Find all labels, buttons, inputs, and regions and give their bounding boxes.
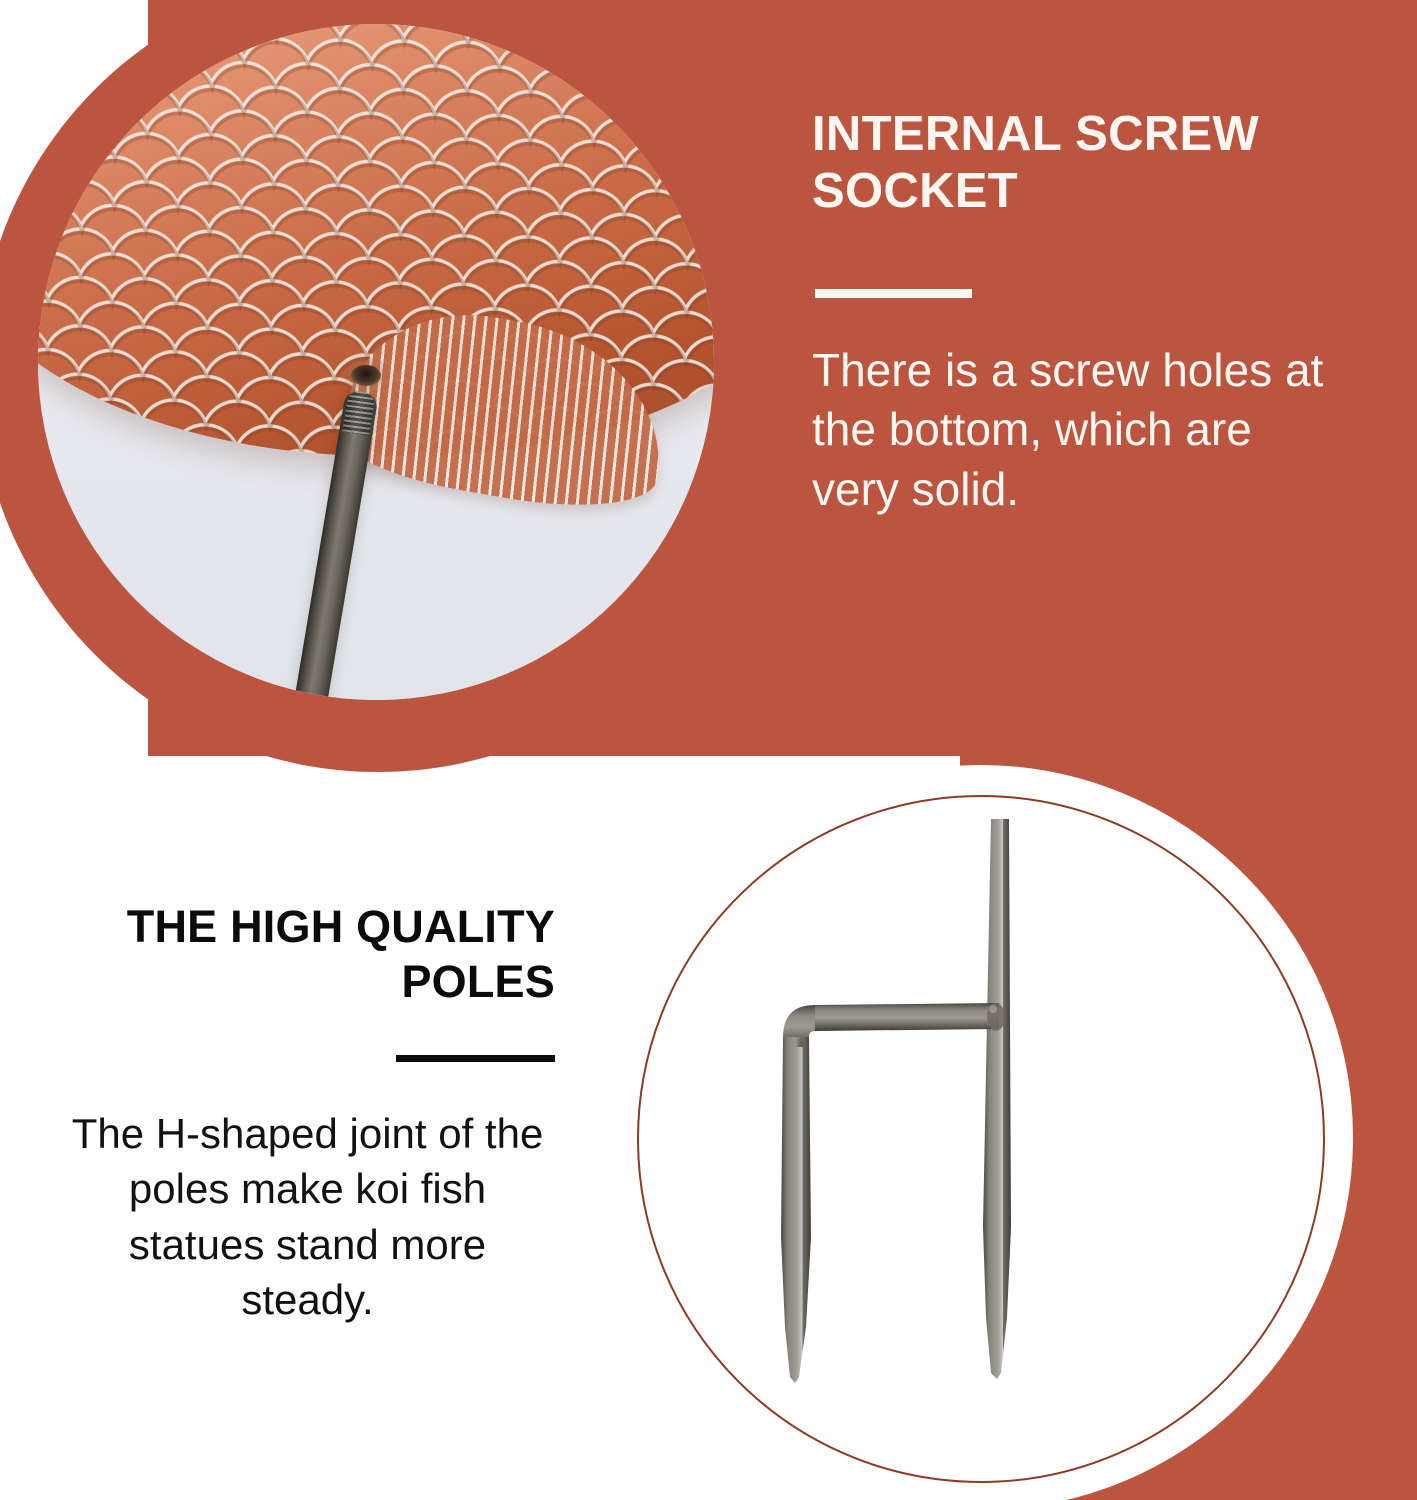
stake-left-prong [781,1037,811,1383]
internal-screw-socket-body: There is a screw holes at the bottom, wh… [812,341,1332,520]
stake-right-prong [983,819,1011,1379]
internal-screw-socket-heading: INTERNAL SCREW SOCKET [812,106,1332,221]
stake-photo-ring-outline [637,795,1325,1483]
divider-rule-light [815,289,972,298]
rod-screw-threads [342,390,376,436]
high-quality-poles-body: The H-shaped joint of the poles make koi… [60,1106,555,1328]
koi-fish-belly-screw-socket-photo [38,24,714,700]
screw-socket-photo-frame [38,24,714,700]
stake-crossbar [815,1003,999,1031]
h-shaped-metal-garden-stake-photo [639,797,1323,1481]
internal-screw-socket-text-block: INTERNAL SCREW SOCKET There is a screw h… [812,106,1332,520]
screw-socket-photo-ring [0,0,778,772]
high-quality-poles-heading: THE HIGH QUALITY POLES [60,900,555,1010]
product-infographic-page: INTERNAL SCREW SOCKET There is a screw h… [0,0,1417,1500]
divider-rule-dark [396,1055,555,1062]
stake-weld-highlight [989,1005,997,1013]
high-quality-poles-text-block: THE HIGH QUALITY POLES The H-shaped join… [60,900,555,1328]
